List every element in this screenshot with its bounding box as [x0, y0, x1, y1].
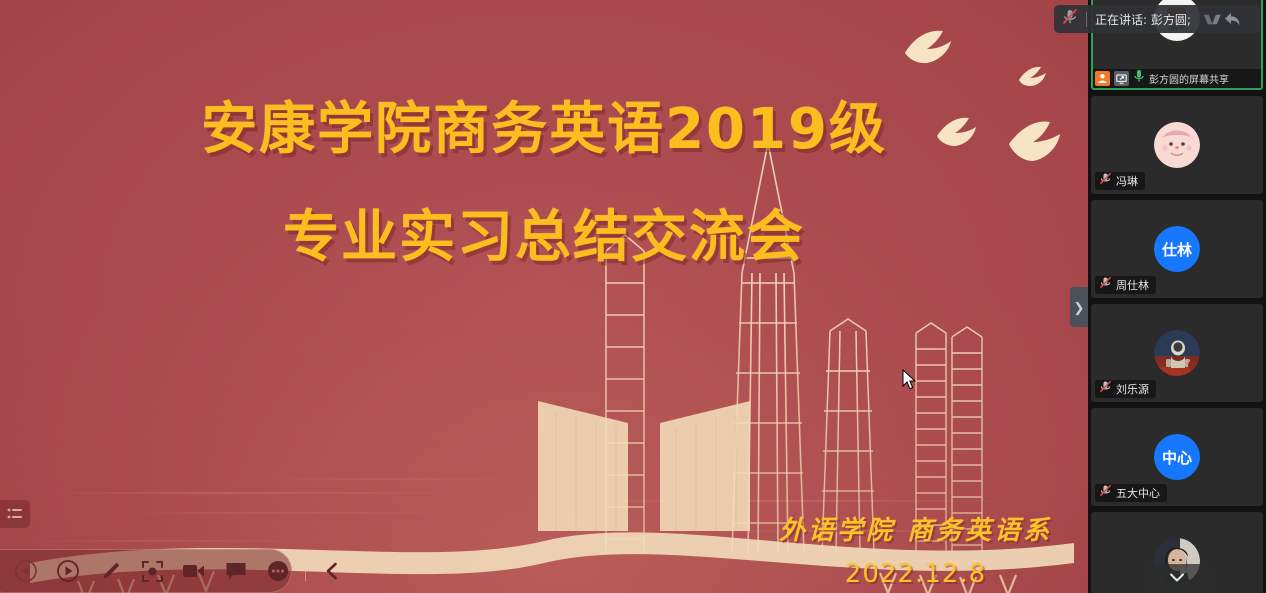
shared-slide-stage: 安康学院商务英语2019级 专业实习总结交流会 外语学院 商务英语系 2022.… [0, 0, 1088, 593]
participant-rail[interactable]: 彭方圆的屏幕共享 [1088, 0, 1266, 593]
screen-share-icon [1114, 71, 1129, 86]
participant-name-bar: 五大中心 [1095, 484, 1167, 502]
banner-divider [1086, 12, 1087, 27]
bird-icon [1008, 118, 1070, 164]
chevron-left-icon [323, 561, 341, 581]
speech-bubble-icon [225, 561, 247, 582]
screen-share-status-bar: 彭方圆的屏幕共享 [1093, 69, 1261, 88]
minimize-chevrons-icon[interactable] [1203, 10, 1222, 29]
toolbar-divider [305, 561, 306, 581]
ellipsis-circle-icon [267, 560, 289, 582]
record-button[interactable] [177, 554, 211, 588]
bird-icon [1018, 65, 1050, 89]
bird-icon [903, 27, 963, 67]
slide-list-menu-button[interactable] [0, 500, 30, 528]
mic-muted-icon [1099, 380, 1112, 398]
participant-share-label: 彭方圆的屏幕共享 [1149, 71, 1229, 86]
mic-muted-icon [1099, 172, 1112, 190]
video-camera-icon [182, 561, 206, 581]
participant-tile[interactable]: 刘乐源 [1091, 304, 1263, 402]
astronaut-photo-icon [1154, 330, 1200, 376]
participant-tile[interactable]: 仕林 周仕林 [1091, 200, 1263, 298]
speaking-status-text: 正在讲话: 彭方圆; [1095, 11, 1191, 28]
chat-button[interactable] [219, 554, 253, 588]
avatar [1154, 122, 1200, 168]
mic-muted-icon [1099, 276, 1112, 294]
annotate-pen-button[interactable] [93, 554, 127, 588]
avatar-initials: 仕林 [1154, 226, 1200, 272]
more-options-button[interactable] [261, 554, 295, 588]
participant-tile[interactable]: 冯琳 [1091, 96, 1263, 194]
participant-tile[interactable] [1091, 512, 1263, 593]
avatar-initials: 中心 [1154, 434, 1200, 480]
participant-name-bar: 刘乐源 [1095, 380, 1156, 398]
meeting-screen-share-window: 安康学院商务英语2019级 专业实习总结交流会 外语学院 商务英语系 2022.… [0, 0, 1266, 593]
participant-name: 刘乐源 [1116, 381, 1149, 397]
chevron-right-icon: ❯ [1074, 301, 1085, 314]
panel-collapse-handle[interactable]: ❯ [1070, 287, 1088, 327]
cartoon-face-photo-icon [1154, 122, 1200, 168]
participant-name: 冯琳 [1116, 173, 1138, 189]
participant-name: 五大中心 [1116, 485, 1160, 501]
speaking-status-banner[interactable]: 正在讲话: 彭方圆; [1054, 5, 1260, 33]
presentation-toolbar [0, 549, 292, 593]
scroll-down-button[interactable] [1143, 564, 1211, 590]
participant-name-bar: 冯琳 [1095, 172, 1145, 190]
city-skyline-illustration [0, 123, 1088, 593]
mic-on-icon [1133, 69, 1145, 88]
previous-slide-button[interactable] [9, 554, 43, 588]
chevron-down-icon [1169, 572, 1185, 583]
mic-muted-icon [1099, 484, 1112, 502]
caret-left-circle-icon [15, 560, 37, 582]
avatar [1154, 330, 1200, 376]
participant-tile[interactable]: 中心 五大中心 [1091, 408, 1263, 506]
participant-name: 周仕林 [1116, 277, 1149, 293]
participant-name-bar: 周仕林 [1095, 276, 1156, 294]
list-menu-icon [7, 507, 23, 521]
avatar: 仕林 [1154, 226, 1200, 272]
mic-muted-icon [1062, 8, 1078, 30]
focus-frame-icon [141, 560, 164, 583]
caret-right-circle-icon [57, 560, 79, 582]
banner-actions [1203, 10, 1242, 29]
bird-icon [936, 115, 984, 149]
pencil-icon [99, 560, 122, 583]
restore-arrow-icon[interactable] [1223, 10, 1242, 29]
collapse-toolbar-button[interactable] [315, 554, 349, 588]
host-person-icon [1095, 71, 1110, 86]
next-slide-button[interactable] [51, 554, 85, 588]
avatar: 中心 [1154, 434, 1200, 480]
laser-pointer-button[interactable] [135, 554, 169, 588]
